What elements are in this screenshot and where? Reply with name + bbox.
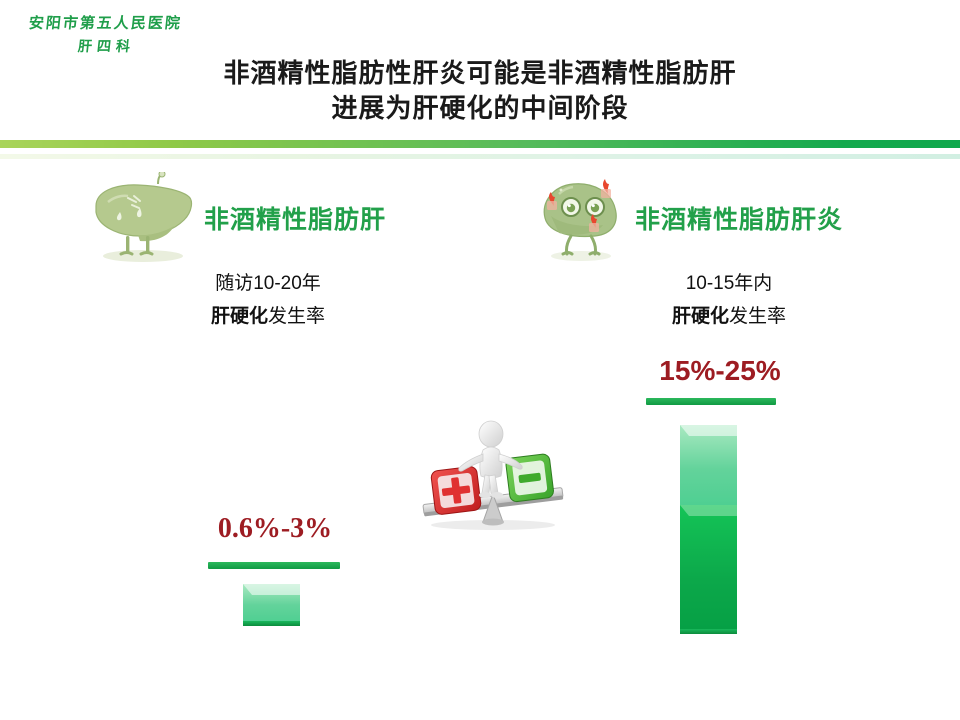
bar-nash <box>680 425 737 630</box>
nash-outcome-label: 肝硬化发生率 <box>573 303 885 332</box>
page-title: 非酒精性脂肪性肝炎可能是非酒精性脂肪肝 进展为肝硬化的中间阶段 <box>130 56 830 127</box>
hospital-logo: 安阳市第五人民医院 肝四科 <box>8 6 204 62</box>
nafld-followup-period: 随访10-20年 <box>118 270 418 299</box>
nash-outcome-rest: 发生率 <box>729 306 786 327</box>
nafld-outcome-label: 肝硬化发生率 <box>118 303 418 332</box>
bar-bevel-top-dark <box>680 505 755 516</box>
column-nash-header: 非酒精性脂肪肝炎 <box>535 172 885 264</box>
nash-value-label: 15%-25% <box>640 355 800 387</box>
nash-value-underline <box>646 398 776 405</box>
nash-outcome-bold: 肝硬化 <box>672 306 729 327</box>
bar-nash-base <box>680 629 737 634</box>
column-nafld-header: 非酒精性脂肪肝 <box>88 172 418 264</box>
bar-nash-lower-segment <box>680 505 737 630</box>
bar-nafld <box>243 584 300 622</box>
nafld-outcome-bold: 肝硬化 <box>211 306 268 327</box>
inflamed-liver-icon <box>535 174 627 262</box>
bar-nash-upper-segment <box>680 425 737 505</box>
bar-nafld-base <box>243 621 300 626</box>
slide-canvas: 安阳市第五人民医院 肝四科 非酒精性脂肪性肝炎可能是非酒精性脂肪肝 进展为肝硬化… <box>0 0 960 720</box>
title-line-1: 非酒精性脂肪性肝炎可能是非酒精性脂肪肝 <box>130 56 830 91</box>
bar-bevel-top-light <box>680 425 755 436</box>
divider-soft-bar <box>0 154 960 159</box>
nafld-outcome-rest: 发生率 <box>268 306 325 327</box>
bar-nafld-segment <box>243 584 300 622</box>
divider-main-bar <box>0 140 960 148</box>
column-nash-heading: 非酒精性脂肪肝炎 <box>635 200 843 236</box>
divider <box>0 140 960 162</box>
column-nafld-subtext: 随访10-20年 肝硬化发生率 <box>118 270 418 331</box>
balance-seesaw-figure <box>405 418 580 530</box>
column-nafld: 非酒精性脂肪肝 随访10-20年 肝硬化发生率 <box>88 172 418 331</box>
fatty-liver-icon <box>88 172 198 264</box>
nafld-value-label: 0.6%-3% <box>195 513 355 545</box>
bar-nafld-bevel-top <box>243 584 318 595</box>
hospital-name: 安阳市第五人民医院 <box>28 12 183 33</box>
column-nash-subtext: 10-15年内 肝硬化发生率 <box>573 270 885 331</box>
column-nafld-heading: 非酒精性脂肪肝 <box>204 200 386 236</box>
nafld-value-underline <box>208 562 340 569</box>
department-name: 肝四科 <box>76 36 135 56</box>
nash-followup-period: 10-15年内 <box>573 270 885 299</box>
column-nash: 非酒精性脂肪肝炎 10-15年内 肝硬化发生率 <box>535 172 885 331</box>
title-line-2: 进展为肝硬化的中间阶段 <box>130 91 830 126</box>
